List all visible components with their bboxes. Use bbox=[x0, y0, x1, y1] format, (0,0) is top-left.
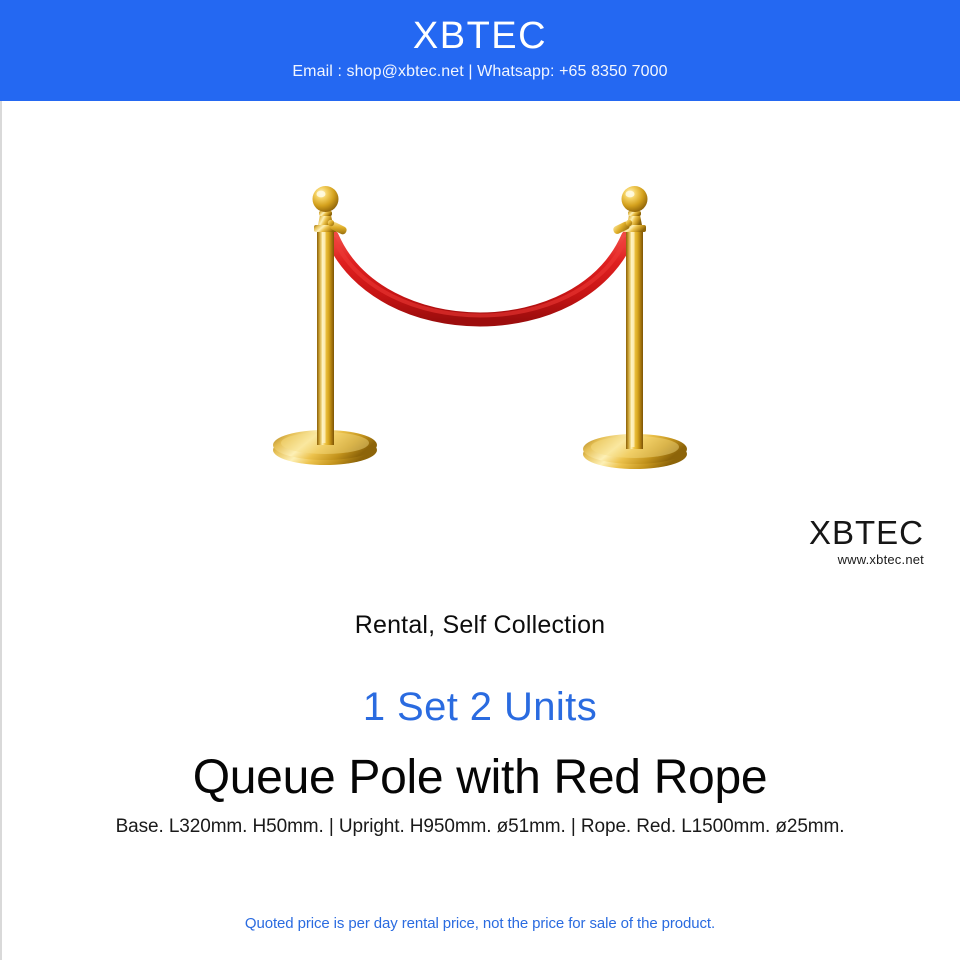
queue-pole-right bbox=[583, 186, 687, 469]
product-image bbox=[260, 175, 700, 495]
rental-subtitle: Rental, Self Collection bbox=[0, 611, 960, 640]
rope-highlight bbox=[334, 239, 626, 316]
product-title: Queue Pole with Red Rope bbox=[0, 750, 960, 805]
brand-title: XBTEC bbox=[0, 0, 960, 58]
product-advertisement-page: XBTEC Email : shop@xbtec.net | Whatsapp:… bbox=[0, 0, 960, 960]
red-rope bbox=[332, 237, 628, 320]
pole-ball-finial-right bbox=[622, 186, 648, 212]
units-label: 1 Set 2 Units bbox=[0, 685, 960, 730]
queue-pole-illustration bbox=[260, 175, 700, 495]
product-specs: Base. L320mm. H50mm. | Upright. H950mm. … bbox=[0, 816, 960, 838]
pole-ball-finial-left bbox=[313, 186, 339, 212]
queue-pole-left bbox=[273, 186, 377, 465]
watermark-brand: XBTEC bbox=[809, 516, 924, 550]
page-header: XBTEC Email : shop@xbtec.net | Whatsapp:… bbox=[0, 0, 960, 101]
contact-info: Email : shop@xbtec.net | Whatsapp: +65 8… bbox=[0, 58, 960, 82]
watermark: XBTEC www.xbtec.net bbox=[809, 516, 924, 568]
price-disclaimer: Quoted price is per day rental price, no… bbox=[0, 915, 960, 932]
watermark-url: www.xbtec.net bbox=[809, 550, 924, 568]
